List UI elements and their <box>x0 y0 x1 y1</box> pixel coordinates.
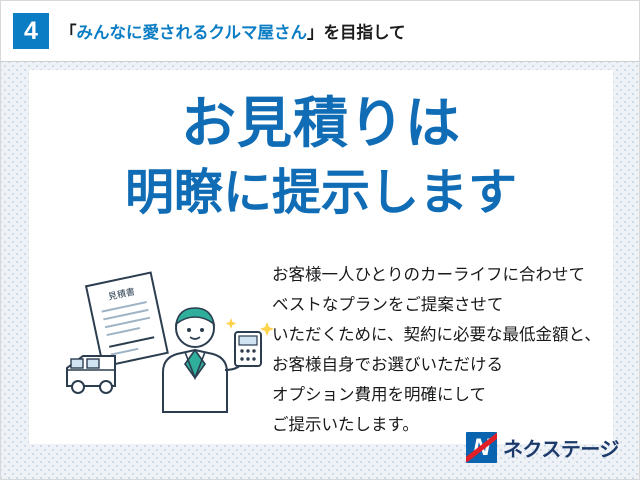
page-title: 「みんなに愛されるクルマ屋さん」を目指して <box>60 19 406 43</box>
logo-wordmark: ネクステージ <box>503 433 619 462</box>
paragraph-line-1: お客様一人ひとりのカーライフに合わせて <box>272 260 612 290</box>
page-header: 4 「みんなに愛されるクルマ屋さん」を目指して <box>1 1 640 62</box>
section-number-badge: 4 <box>13 13 49 49</box>
headline-line-2: 明瞭に提示します <box>29 158 613 228</box>
page-title-emphasis: みんなに愛されるクルマ屋さん <box>77 24 308 42</box>
paragraph-line-3: いただくために、契約に必要な最低金額と、 <box>272 320 612 350</box>
headline-line-1: お見積りは <box>181 92 461 154</box>
paragraph-line-2: ベストなプランをご提案させて <box>272 290 612 320</box>
headline: お見積りは 明瞭に提示します <box>29 88 613 228</box>
paragraph-line-5: オプション費用を明確にして <box>272 380 612 410</box>
staff-with-estimate-illustration: 見積書 <box>59 260 274 420</box>
staff-person <box>163 308 274 412</box>
description-paragraph: お客様一人ひとりのカーライフに合わせて ベストなプランをご提案させて いただくた… <box>272 260 612 440</box>
logo-mark-icon: N <box>466 432 497 463</box>
white-panel: お見積りは 明瞭に提示します 見積書 <box>29 70 613 444</box>
content-area: お見積りは 明瞭に提示します 見積書 <box>1 62 640 480</box>
page-title-prefix: 「 <box>60 24 77 42</box>
page-title-suffix: 」を目指して <box>307 24 406 42</box>
paragraph-line-4: お客様自身でお選びいただける <box>272 350 612 380</box>
promo-page: 4 「みんなに愛されるクルマ屋さん」を目指して お見積りは 明瞭に提示します 見… <box>0 0 640 480</box>
nextage-logo: N ネクステージ <box>466 432 619 463</box>
van-illustration <box>67 356 115 393</box>
